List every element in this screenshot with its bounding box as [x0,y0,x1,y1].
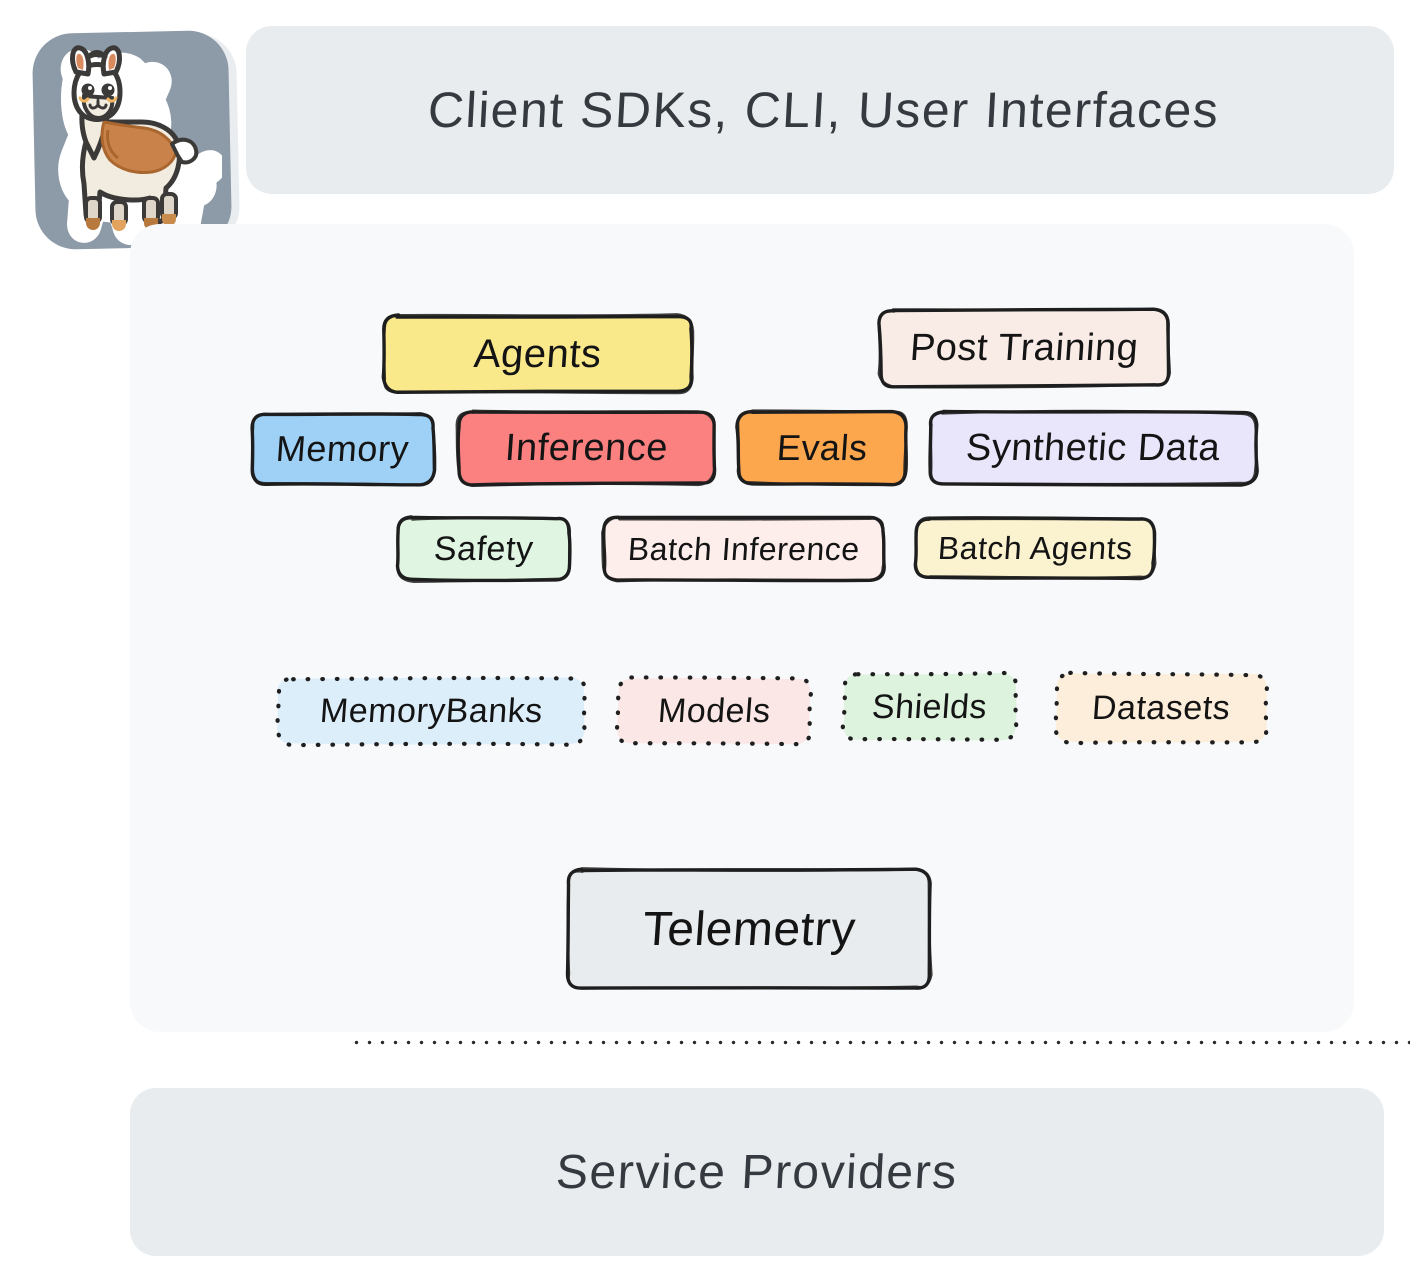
llama-logo-icon [32,38,222,248]
node-safety[interactable]: Safety [398,518,570,580]
client-layer-title: Client SDKs, CLI, User Interfaces [427,81,1221,139]
node-label-memory-banks: MemoryBanks [318,692,544,731]
node-memory-banks[interactable]: MemoryBanks [278,678,584,744]
node-evals[interactable]: Evals [738,412,906,484]
node-inference[interactable]: Inference [458,412,714,484]
node-label-telemetry: Telemetry [641,902,857,957]
node-label-datasets: Datasets [1091,689,1232,728]
node-label-models: Models [656,692,771,731]
node-memory[interactable]: Memory [252,414,434,484]
client-layer-banner: Client SDKs, CLI, User Interfaces [246,26,1394,194]
llama-logo [26,24,238,256]
node-label-safety: Safety [433,530,535,569]
node-label-agents: Agents [473,332,604,377]
node-datasets[interactable]: Datasets [1056,674,1266,742]
node-telemetry[interactable]: Telemetry [568,870,930,988]
node-shields[interactable]: Shields [844,674,1016,740]
service-providers-title: Service Providers [555,1145,960,1200]
node-batch-inference[interactable]: Batch Inference [604,518,884,580]
diagram-stage: Client SDKs, CLI, User Interfaces Agents… [0,0,1410,1268]
node-label-synthetic-data: Synthetic Data [964,427,1221,470]
node-agents[interactable]: Agents [384,316,692,392]
node-label-evals: Evals [775,427,868,469]
node-post-training[interactable]: Post Training [880,310,1168,386]
service-providers-banner: Service Providers [130,1088,1384,1256]
node-label-inference: Inference [503,427,669,470]
node-label-batch-agents: Batch Agents [936,530,1133,567]
node-label-memory: Memory [275,428,411,470]
node-label-shields: Shields [871,688,989,727]
panel-divider [350,1040,1410,1045]
node-models[interactable]: Models [618,678,810,744]
node-synthetic-data[interactable]: Synthetic Data [930,412,1256,484]
node-label-batch-inference: Batch Inference [627,531,861,568]
node-batch-agents[interactable]: Batch Agents [916,518,1154,578]
node-label-post-training: Post Training [908,327,1139,370]
